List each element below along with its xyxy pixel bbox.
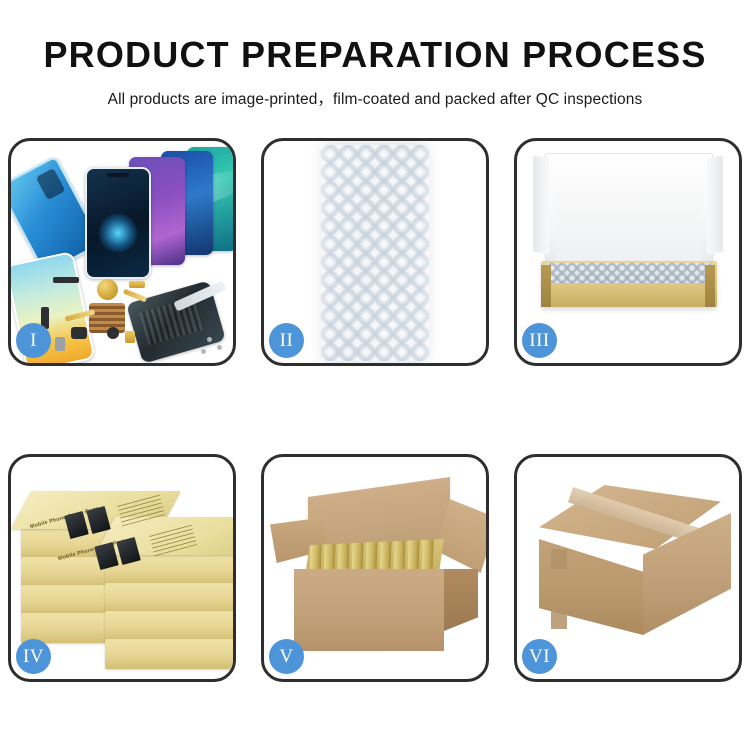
retail-box <box>105 611 233 641</box>
logic-board-chip <box>89 303 125 333</box>
step-panel-4: Mobile Phone Spare Parts Mobile Phone Sp… <box>8 454 236 682</box>
camera-module <box>71 327 87 339</box>
step-badge-3: III <box>522 323 557 358</box>
button-part <box>107 327 119 339</box>
step-badge-4: IV <box>16 639 51 674</box>
carton-corner-mark <box>551 549 567 569</box>
step-panel-3: III <box>514 138 742 366</box>
screw-part <box>207 337 212 342</box>
white-box-lid <box>545 153 713 267</box>
step-badge-2: II <box>269 323 304 358</box>
phone-front-glass-black <box>85 167 151 279</box>
product-preparation-infographic: PRODUCT PREPARATION PROCESS All products… <box>0 0 750 750</box>
retail-box-stack: Mobile Phone Spare Parts Mobile Phone Sp… <box>19 481 231 663</box>
bubble-wrapped-contents <box>547 263 711 283</box>
step-panel-2: II <box>261 138 489 366</box>
step-panel-6: VI <box>514 454 742 682</box>
connector-part <box>125 331 135 343</box>
step-badge-5: V <box>269 639 304 674</box>
page-title: PRODUCT PREPARATION PROCESS <box>0 0 750 76</box>
steps-grid: I II III <box>8 138 742 683</box>
step-badge-6: VI <box>522 639 557 674</box>
sim-tray-part <box>55 337 65 351</box>
lid-flap-left <box>533 156 549 255</box>
lid-flap-right <box>707 156 723 255</box>
carton-corner-mark <box>551 611 567 629</box>
carton-front-face <box>294 569 444 651</box>
tray-edge-left <box>541 265 551 307</box>
screw-part <box>201 349 206 354</box>
step-badge-1: I <box>16 323 51 358</box>
carton-side-face <box>444 569 478 631</box>
page-subtitle: All products are image-printed，film-coat… <box>0 76 750 109</box>
speaker-part-icon <box>97 279 118 300</box>
retail-box <box>105 583 233 613</box>
spare-part-gold <box>129 281 145 288</box>
spare-part-bar <box>53 277 79 283</box>
step-panel-5: V <box>261 454 489 682</box>
step-panel-1: I <box>8 138 236 366</box>
bubble-wrap-pouch <box>321 145 429 361</box>
tray-edge-right <box>705 265 715 307</box>
header: PRODUCT PREPARATION PROCESS All products… <box>0 0 750 109</box>
retail-box <box>105 639 233 669</box>
screw-part <box>217 345 222 350</box>
